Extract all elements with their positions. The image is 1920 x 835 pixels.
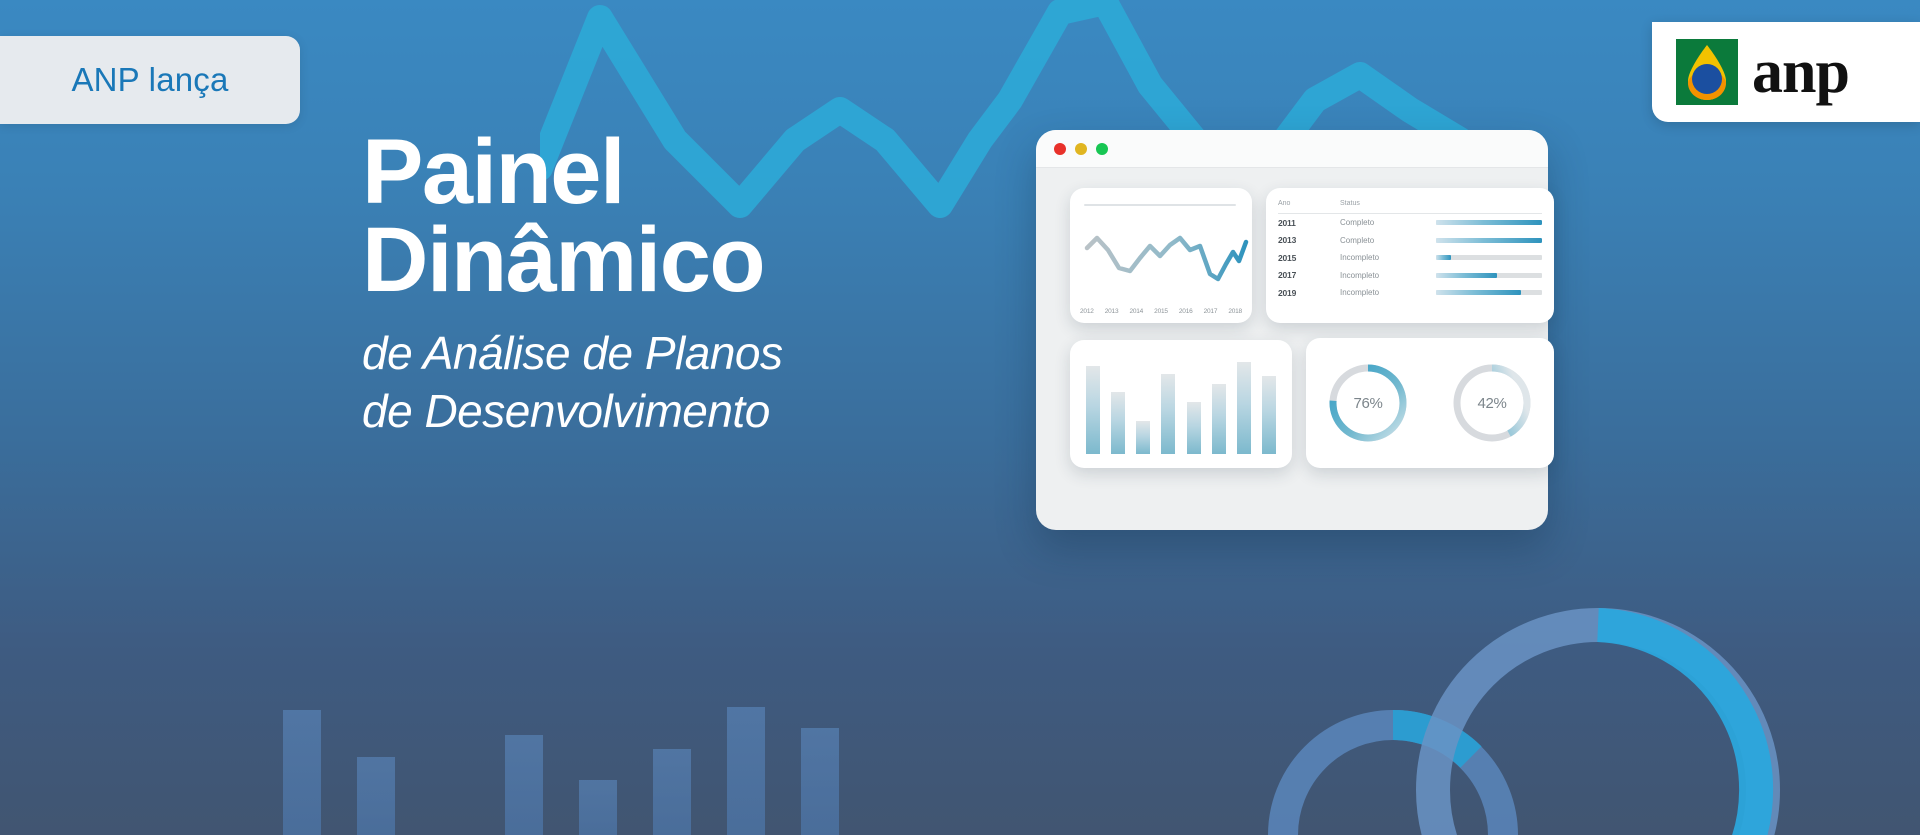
column-header-status: Status: [1340, 200, 1436, 207]
x-tick: 2014: [1129, 308, 1143, 315]
subtitle-line-1: de Análise de Planos: [362, 325, 1062, 383]
cell-progress: [1436, 255, 1542, 260]
cell-status: Incompleto: [1340, 253, 1436, 262]
x-tick: 2016: [1179, 308, 1193, 315]
cell-ano: 2017: [1278, 270, 1340, 280]
cell-progress: [1436, 273, 1542, 278]
page-subtitle: de Análise de Planos de Desenvolvimento: [362, 325, 1062, 441]
background-bar-chart-decor: [283, 707, 839, 835]
title-line-1: Painel: [362, 128, 1062, 216]
table-row[interactable]: 2019 Incompleto: [1278, 284, 1542, 302]
bar: [1086, 366, 1100, 454]
background-donut-decor-small: [1283, 725, 1503, 835]
x-tick: 2017: [1204, 308, 1218, 315]
page-title: Painel Dinâmico: [362, 128, 1062, 305]
background-donut-decor: [1188, 535, 1828, 835]
status-table-card: Ano Status 2011 Completo 2013 Completo: [1266, 188, 1554, 323]
card-divider: [1084, 204, 1236, 206]
gauge-left: 76%: [1325, 360, 1411, 446]
window-body: 2012 2013 2014 2015 2016 2017 2018 Ano S…: [1036, 168, 1548, 200]
table-header-row: Ano Status: [1278, 200, 1542, 214]
bar: [1161, 374, 1175, 454]
cell-ano: 2011: [1278, 218, 1340, 228]
badge-label: ANP lança: [71, 61, 228, 99]
minimize-icon[interactable]: [1075, 143, 1087, 155]
close-icon[interactable]: [1054, 143, 1066, 155]
table-row[interactable]: 2011 Completo: [1278, 214, 1542, 232]
cell-ano: 2015: [1278, 253, 1340, 263]
headline-block: Painel Dinâmico de Análise de Planos de …: [362, 128, 1062, 441]
gauge-left-value: 76%: [1325, 360, 1411, 446]
table-row[interactable]: 2015 Incompleto: [1278, 249, 1542, 267]
background-donut-decor-large: [1433, 625, 1763, 835]
table-row[interactable]: 2013 Completo: [1278, 232, 1542, 250]
cell-status: Completo: [1340, 218, 1436, 227]
x-tick: 2018: [1228, 308, 1242, 315]
cell-progress: [1436, 290, 1542, 295]
anp-wordmark: anp: [1752, 47, 1849, 98]
status-table: Ano Status 2011 Completo 2013 Completo: [1278, 200, 1542, 313]
x-tick: 2015: [1154, 308, 1168, 315]
cell-progress: [1436, 220, 1542, 225]
anp-droplet-icon: [1676, 39, 1738, 105]
subtitle-line-2: de Desenvolvimento: [362, 383, 1062, 441]
window-titlebar: [1036, 130, 1548, 168]
gauge-card: 76%: [1306, 338, 1554, 468]
line-chart-card: 2012 2013 2014 2015 2016 2017 2018: [1070, 188, 1252, 323]
cell-status: Completo: [1340, 236, 1436, 245]
dashboard-window-mockup: 2012 2013 2014 2015 2016 2017 2018 Ano S…: [1036, 130, 1548, 530]
line-chart-svg: [1070, 216, 1252, 296]
bar: [1262, 376, 1276, 454]
maximize-icon[interactable]: [1096, 143, 1108, 155]
bar: [1136, 421, 1150, 454]
gauge-right-value: 42%: [1449, 360, 1535, 446]
line-chart-x-axis: 2012 2013 2014 2015 2016 2017 2018: [1080, 308, 1242, 315]
column-header-ano: Ano: [1278, 200, 1340, 207]
bar-chart-card: [1070, 340, 1292, 468]
cell-ano: 2013: [1278, 235, 1340, 245]
anp-lanca-badge[interactable]: ANP lança: [0, 36, 300, 124]
bar: [1237, 362, 1251, 454]
banner-root: ANP lança anp Painel Dinâmico de Análise…: [0, 0, 1920, 835]
bar-chart: [1086, 354, 1276, 454]
cell-progress: [1436, 238, 1542, 243]
gauge-right: 42%: [1449, 360, 1535, 446]
x-tick: 2012: [1080, 308, 1094, 315]
bar: [1111, 392, 1125, 454]
cell-status: Incompleto: [1340, 271, 1436, 280]
cell-status: Incompleto: [1340, 288, 1436, 297]
table-row[interactable]: 2017 Incompleto: [1278, 267, 1542, 285]
x-tick: 2013: [1105, 308, 1119, 315]
anp-logo[interactable]: anp: [1652, 22, 1920, 122]
cell-ano: 2019: [1278, 288, 1340, 298]
bar: [1187, 402, 1201, 454]
title-line-2: Dinâmico: [362, 216, 1062, 304]
bar: [1212, 384, 1226, 454]
